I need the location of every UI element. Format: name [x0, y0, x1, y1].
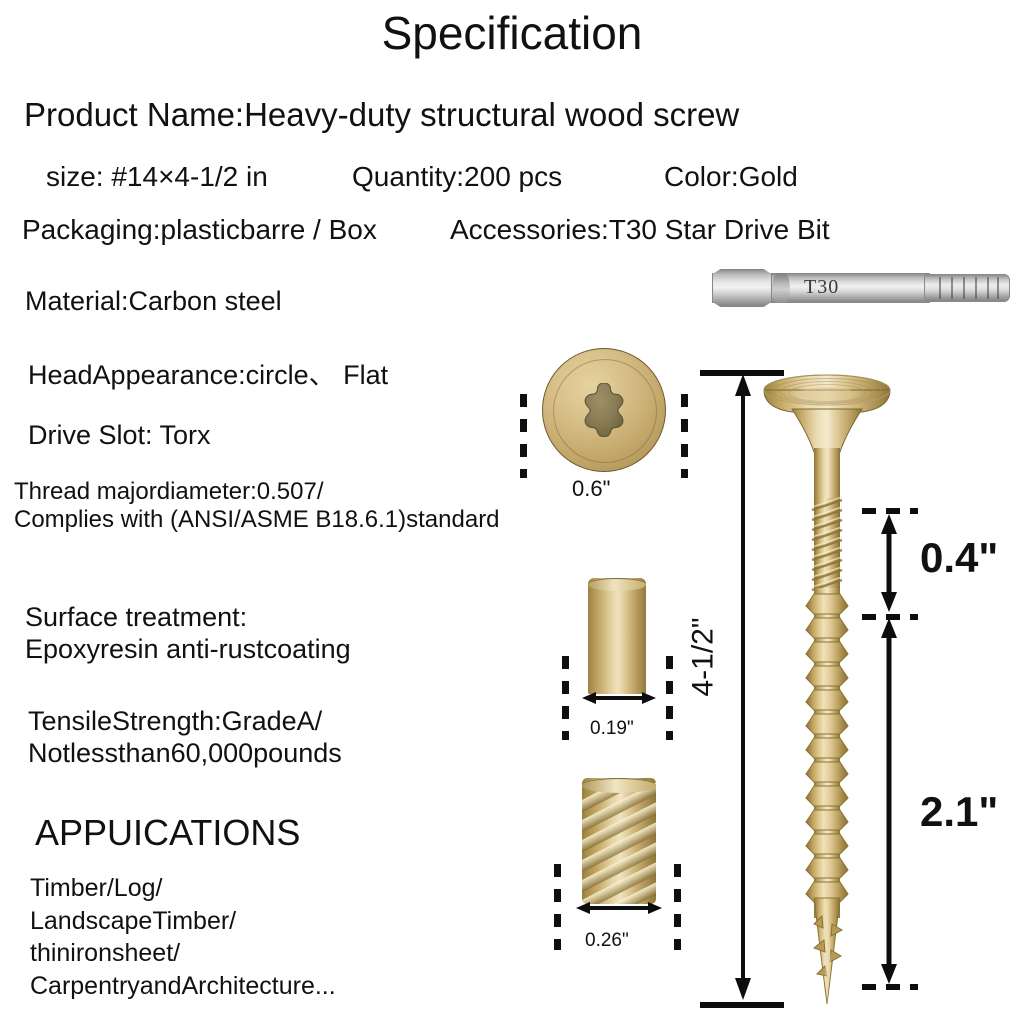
spec-quantity: Quantity:200 pcs	[352, 160, 562, 193]
spec-thread-diameter: Thread majordiameter:0.507/ Complies wit…	[14, 478, 500, 535]
smooth-shank-cylinder	[588, 578, 646, 694]
screw-head-top-view: 0.6"	[520, 348, 688, 498]
shank-extension-line-left	[562, 656, 569, 740]
upper-thread-arrow	[880, 514, 898, 612]
applications-list: Timber/Log/ LandscapeTimber/ thinironshe…	[30, 872, 336, 1002]
spec-material: Material:Carbon steel	[25, 286, 282, 318]
spec-product-name: Product Name:Heavy-duty structural wood …	[24, 96, 739, 135]
torx-star-recess-icon	[577, 383, 631, 437]
thread-diameter-illustration: 0.26"	[552, 778, 692, 963]
threaded-cylinder	[582, 778, 656, 904]
head-diameter-label: 0.6"	[572, 476, 610, 502]
spec-size: size: #14×4-1/2 in	[46, 160, 268, 193]
upper-thread-dimension: 0.4"	[862, 508, 922, 628]
thread-extension-line-right	[674, 864, 681, 950]
screw-point-tip	[814, 898, 842, 1004]
shank-dimension-arrow	[582, 690, 656, 706]
head-extension-line-left	[520, 394, 527, 478]
shank-diameter-label: 0.19"	[590, 718, 634, 740]
lower-thread-arrow	[880, 618, 898, 984]
t30-driver-bit-illustration: T30	[712, 256, 1010, 318]
total-length-label: 4-1/2"	[687, 617, 721, 696]
total-length-tick-bottom	[700, 1002, 784, 1008]
spec-color: Color:Gold	[664, 160, 798, 193]
screw-lower-threads	[806, 588, 848, 918]
head-extension-line-right	[681, 394, 688, 478]
screw-upper-threads	[812, 497, 842, 590]
thread-dimension-arrow	[576, 900, 662, 916]
screw-shank	[814, 448, 840, 500]
spec-tensile-strength: TensileStrength:GradeA/ Notlessthan60,00…	[28, 706, 342, 770]
bit-torx-tip	[924, 274, 1010, 302]
screw-head-disc	[542, 348, 666, 472]
thread-diameter-label: 0.26"	[585, 930, 629, 952]
applications-heading: APPUICATIONS	[35, 812, 300, 854]
thread-extension-line-left	[554, 864, 561, 950]
lower-thread-dimension: 2.1"	[862, 618, 922, 990]
shank-extension-line-right	[666, 656, 673, 740]
bit-size-label: T30	[804, 276, 839, 299]
spec-accessories: Accessories:T30 Star Drive Bit	[450, 213, 830, 246]
lower-thread-tick-bottom	[862, 984, 918, 990]
total-length-arrow	[734, 374, 752, 1000]
spec-drive-slot: Drive Slot: Torx	[28, 420, 211, 452]
specification-infographic: Specification Product Name:Heavy-duty st…	[0, 0, 1024, 1024]
spec-packaging: Packaging:plasticbarre / Box	[22, 213, 377, 246]
bit-hex-shank-icon	[712, 269, 772, 307]
spec-head-appearance: HeadAppearance:circle、 Flat	[28, 360, 388, 392]
total-length-dimension: 4-1/2"	[700, 370, 784, 1008]
spec-surface-treatment: Surface treatment: Epoxyresin anti-rustc…	[25, 602, 351, 666]
upper-thread-label: 0.4"	[920, 534, 998, 582]
shank-diameter-illustration: 0.19"	[556, 578, 686, 748]
page-title: Specification	[0, 6, 1024, 60]
lower-thread-label: 2.1"	[920, 788, 998, 836]
bit-retention-groove	[772, 273, 790, 303]
